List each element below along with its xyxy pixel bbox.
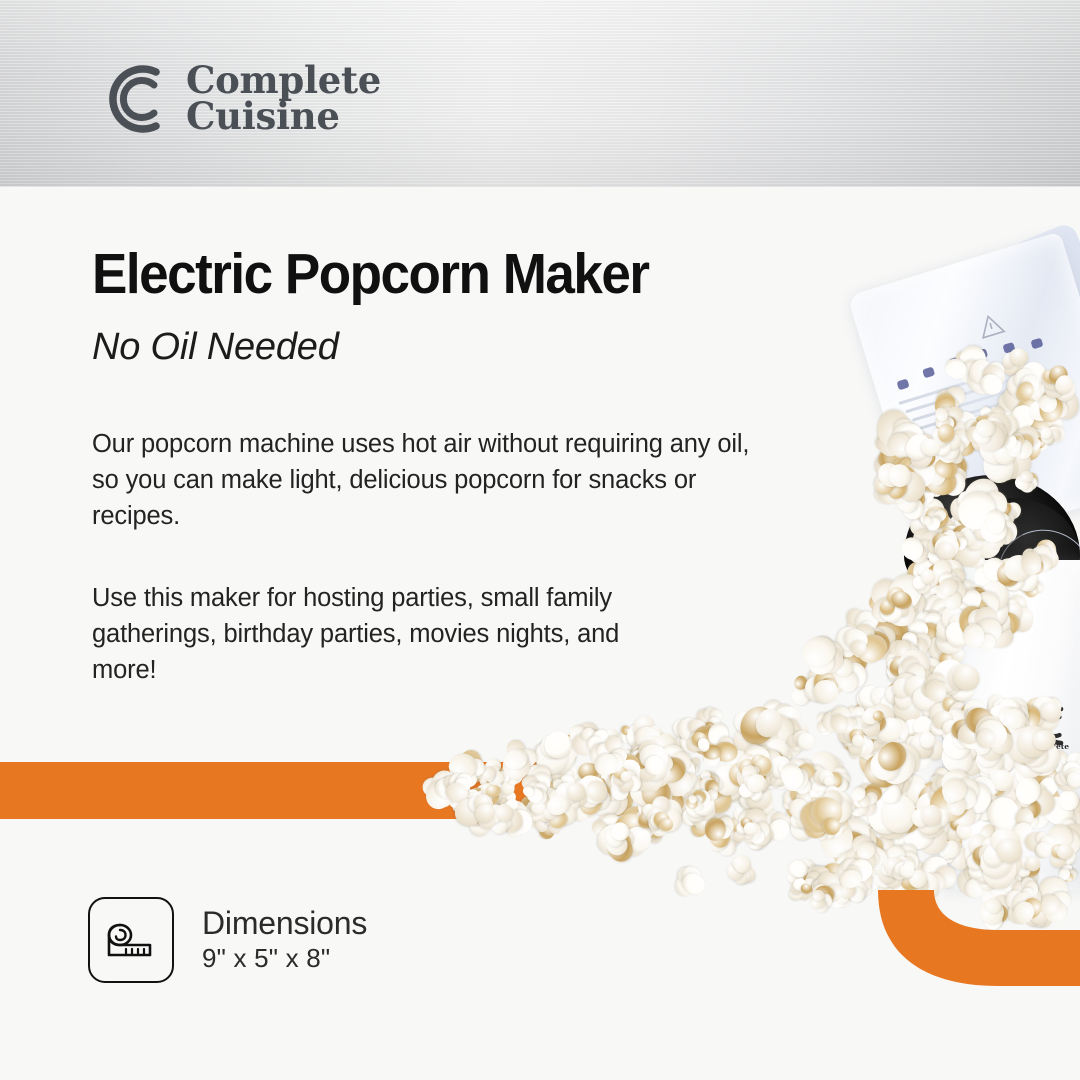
device-logo-line2: Cuisine (1018, 751, 1080, 760)
popcorn-kernel (693, 725, 737, 769)
popcorn-kernel (784, 799, 825, 840)
popcorn-kernel (739, 818, 776, 855)
popcorn-kernel (587, 805, 628, 846)
popcorn-kernel (652, 778, 674, 800)
popcorn-kernel (654, 771, 687, 804)
popcorn-kernel (794, 791, 830, 827)
popcorn-kernel (696, 767, 723, 794)
popcorn-kernel (724, 747, 764, 787)
popcorn-kernel (584, 759, 624, 799)
popcorn-kernel (634, 798, 672, 836)
popcorn-kernel (627, 728, 666, 767)
popcorn-kernel (648, 751, 692, 795)
popcorn-kernel (756, 703, 798, 745)
brand-lockup: Complete Cuisine (92, 55, 381, 143)
popcorn-kernel (556, 779, 590, 813)
popcorn-kernel (761, 756, 797, 792)
popcorn-kernel (733, 808, 775, 850)
popcorn-kernel (568, 721, 601, 754)
popcorn-kernel (757, 719, 800, 762)
popcorn-kernel (760, 756, 790, 786)
popcorn-kernel (725, 752, 767, 794)
popcorn-kernel (731, 751, 776, 796)
popcorn-kernel (750, 747, 791, 788)
popcorn-kernel (758, 703, 814, 759)
popcorn-kernel (571, 770, 620, 819)
orange-accent-band (0, 762, 560, 819)
popcorn-kernel (735, 759, 775, 799)
popcorn-kernel (588, 733, 633, 778)
popcorn-kernel (738, 770, 772, 804)
popcorn-kernel (584, 772, 610, 798)
popcorn-kernel (740, 736, 783, 779)
popcorn-kernel (597, 805, 659, 867)
dimensions-spec-row: Dimensions 9" x 5" x 8" (88, 897, 367, 983)
popcorn-kernel (630, 740, 671, 781)
popcorn-kernel (693, 701, 728, 736)
dimensions-text: Dimensions 9" x 5" x 8" (202, 907, 367, 972)
popcorn-kernel (729, 771, 784, 826)
popcorn-kernel (628, 714, 670, 756)
popcorn-kernel (609, 762, 639, 792)
popcorn-kernel (596, 816, 644, 864)
popcorn-kernel (618, 802, 662, 846)
popcorn-kernel (738, 794, 771, 827)
popcorn-kernel (667, 714, 710, 757)
popcorn-kernel (706, 810, 735, 839)
popcorn-kernel (637, 816, 667, 846)
popcorn-kernel (671, 773, 736, 838)
brand-name: Complete Cuisine (186, 63, 381, 134)
popcorn-kernel (610, 766, 643, 799)
page-title: Electric Popcorn Maker (92, 246, 648, 303)
product-infographic: Complete Cuisine Electric Popcorn Maker … (0, 0, 1080, 1080)
product-body-shading (942, 560, 968, 890)
device-logo-text: Complete Cuisine (1018, 742, 1080, 760)
popcorn-kernel (631, 744, 664, 777)
popcorn-kernel (658, 747, 701, 790)
popcorn-kernel (645, 746, 677, 778)
popcorn-kernel (627, 742, 655, 770)
popcorn-kernel (599, 739, 654, 794)
dimensions-icon-container (88, 897, 174, 983)
popcorn-kernel (601, 729, 622, 750)
popcorn-kernel (779, 852, 819, 892)
popcorn-kernel (601, 756, 644, 799)
description-paragraph-1: Our popcorn machine uses hot air without… (92, 426, 782, 534)
popcorn-kernel (735, 751, 776, 792)
popcorn-kernel (737, 728, 790, 781)
popcorn-kernel (609, 742, 636, 769)
popcorn-kernel (728, 697, 790, 759)
orange-accent-curve (830, 860, 1080, 1020)
popcorn-kernel (786, 672, 821, 707)
popcorn-kernel (723, 765, 754, 796)
popcorn-kernel (642, 807, 678, 843)
popcorn-kernel (715, 763, 758, 806)
popcorn-kernel (637, 790, 686, 839)
popcorn-kernel (740, 761, 763, 784)
popcorn-kernel (777, 783, 815, 821)
popcorn-kernel (700, 768, 743, 811)
popcorn-kernel (773, 752, 822, 801)
popcorn-kernel (707, 825, 743, 861)
popcorn-kernel (570, 718, 614, 762)
popcorn-kernel (681, 787, 720, 826)
popcorn-kernel (724, 854, 757, 887)
popcorn-kernel (737, 724, 789, 776)
popcorn-kernel (641, 769, 693, 821)
popcorn-kernel (617, 761, 641, 785)
popcorn-kernel (800, 863, 828, 891)
product-image: Complete Cuisine (830, 230, 1080, 910)
popcorn-kernel (784, 874, 816, 906)
device-logo-line1: Complete (1018, 742, 1080, 751)
popcorn-kernel (798, 796, 820, 818)
popcorn-kernel (583, 786, 607, 810)
double-c-circle-logo-icon (92, 55, 170, 143)
popcorn-kernel (756, 733, 800, 777)
popcorn-kernel (786, 728, 813, 755)
popcorn-kernel (709, 752, 769, 812)
popcorn-kernel (757, 713, 807, 763)
dimensions-label: Dimensions (202, 907, 367, 941)
popcorn-kernel (619, 753, 650, 784)
page-subtitle: No Oil Needed (92, 327, 339, 369)
popcorn-kernel (599, 748, 644, 793)
popcorn-kernel (674, 717, 714, 757)
popcorn-kernel (686, 773, 724, 811)
popcorn-kernel (626, 753, 668, 795)
popcorn-kernel (560, 782, 602, 824)
popcorn-kernel (787, 752, 835, 800)
popcorn-kernel (617, 721, 645, 749)
popcorn-kernel (688, 733, 713, 758)
brand-name-line2: Cuisine (186, 99, 381, 135)
popcorn-kernel (655, 753, 704, 802)
popcorn-kernel (723, 800, 770, 847)
popcorn-kernel (635, 725, 691, 781)
popcorn-kernel (694, 769, 726, 801)
popcorn-kernel (683, 806, 714, 837)
popcorn-kernel (682, 755, 703, 776)
popcorn-kernel (582, 763, 644, 825)
popcorn-kernel (776, 780, 831, 835)
popcorn-kernel (624, 771, 683, 830)
popcorn-kernel (669, 859, 712, 902)
popcorn-kernel (651, 739, 695, 783)
tape-measure-icon (106, 919, 156, 961)
dimensions-value: 9" x 5" x 8" (202, 944, 367, 973)
popcorn-kernel (781, 764, 821, 804)
popcorn-kernel (564, 760, 602, 798)
description-paragraph-2: Use this maker for hosting parties, smal… (92, 580, 672, 688)
popcorn-kernel (610, 744, 657, 791)
popcorn-kernel (755, 806, 796, 847)
popcorn-kernel (729, 814, 762, 847)
popcorn-kernel (683, 786, 710, 813)
